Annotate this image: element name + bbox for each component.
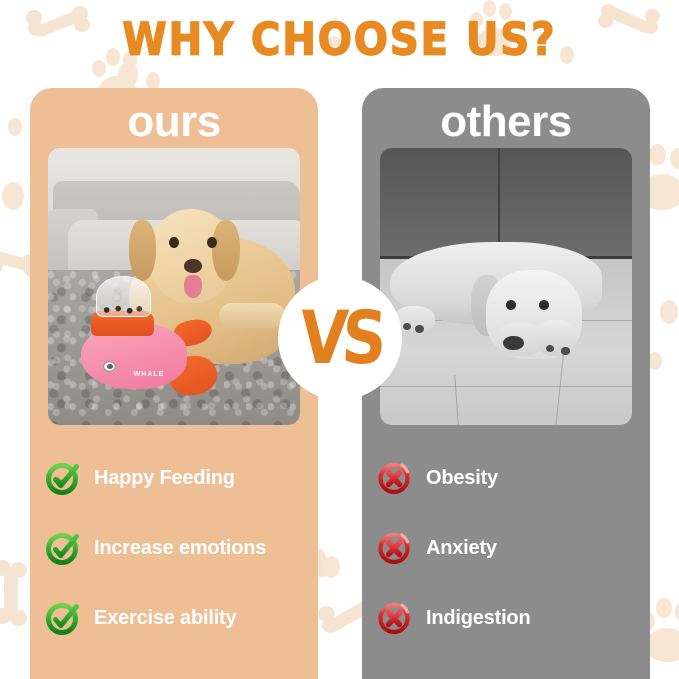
red-cross-icon [378, 531, 412, 565]
red-cross-icon [378, 601, 412, 635]
feature-list-ours: Happy Feeding Increase emotions [46, 443, 302, 653]
dot-decoration [660, 300, 678, 324]
panel-heading-ours: ours [30, 96, 318, 148]
dot-decoration [2, 182, 24, 210]
feature-label: Happy Feeding [94, 467, 235, 490]
feature-label: Exercise ability [94, 607, 236, 630]
feature-list-others: Obesity Anxiety [378, 443, 634, 653]
photo-ours: WHALE [48, 148, 300, 425]
green-check-icon [46, 461, 80, 495]
feature-row: Exercise ability [46, 583, 302, 653]
panel-ours: ours [30, 88, 318, 679]
promo-graphic: WHY CHOOSE US? ours [0, 0, 679, 679]
feature-label: Obesity [426, 467, 498, 490]
product-label: WHALE [134, 371, 165, 378]
panel-heading-others: others [362, 96, 650, 148]
photo-others [380, 148, 632, 425]
feature-row: Obesity [378, 443, 634, 513]
panel-others: others [362, 88, 650, 679]
feature-row: Anxiety [378, 513, 634, 583]
feature-row: Indigestion [378, 583, 634, 653]
feature-row: Increase emotions [46, 513, 302, 583]
feature-label: Indigestion [426, 607, 530, 630]
feature-row: Happy Feeding [46, 443, 302, 513]
dot-decoration [8, 118, 22, 136]
feature-label: Increase emotions [94, 537, 266, 560]
dot-decoration [118, 62, 138, 88]
dot-decoration [322, 556, 340, 578]
feature-label: Anxiety [426, 537, 497, 560]
bone-decoration [0, 560, 34, 624]
vs-label: VS [298, 301, 383, 374]
dot-decoration [648, 352, 662, 370]
green-check-icon [46, 601, 80, 635]
green-check-icon [46, 531, 80, 565]
red-cross-icon [378, 461, 412, 495]
vs-badge: VS [278, 276, 402, 400]
page-title: WHY CHOOSE US? [0, 14, 679, 66]
